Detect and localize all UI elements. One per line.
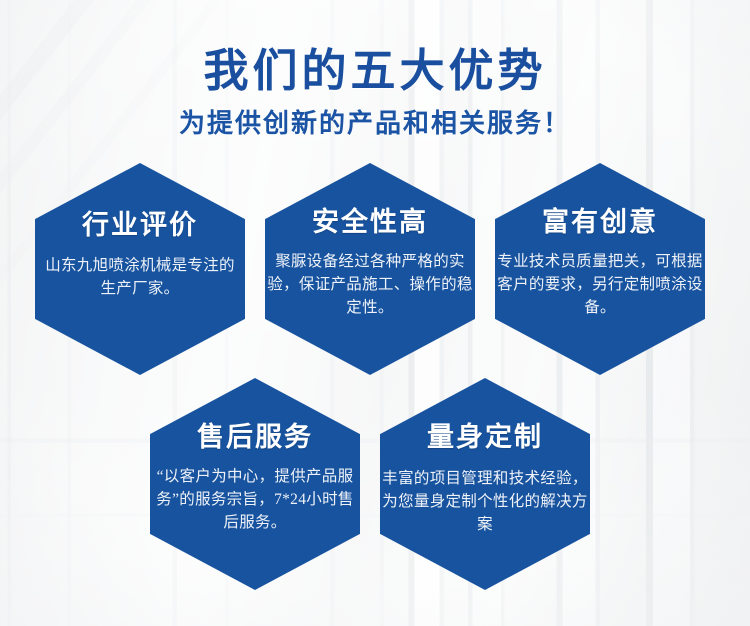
advantage-hexagon-industry-rating[interactable]: 行业评价 山东九旭喷涂机械是专注的生产厂家。	[35, 163, 245, 375]
advantage-hexagon-rich-creativity[interactable]: 富有创意 专业技术员质量把关，可根据客户的要求，另行定制喷涂设备。	[495, 163, 705, 375]
advantage-title: 行业评价	[82, 210, 198, 242]
page-title: 我们的五大优势	[0, 44, 750, 98]
advantage-body: 山东九旭喷涂机械是专注的生产厂家。	[42, 254, 238, 300]
advantage-body: 聚脲设备经过各种严格的实验，保证产品施工、操作的稳定性。	[267, 250, 473, 319]
advantage-body: “以客户为中心，提供产品服务”的服务宗旨，7*24小时售后服务。	[151, 465, 359, 534]
advantage-hexagon-high-safety[interactable]: 安全性高 聚脲设备经过各种严格的实验，保证产品施工、操作的稳定性。	[265, 163, 475, 375]
advantage-body: 专业技术员质量把关，可根据客户的要求，另行定制喷涂设备。	[497, 250, 703, 319]
advantage-title: 富有创意	[542, 207, 658, 239]
advantage-hexagon-tailored-customization[interactable]: 量身定制 丰富的项目管理和技术经验，为您量身定制个性化的解决方案	[380, 378, 590, 590]
advantage-body: 丰富的项目管理和技术经验，为您量身定制个性化的解决方案	[382, 467, 588, 536]
heading-block: 我们的五大优势 为提供创新的产品和相关服务！	[0, 44, 750, 141]
advantage-title: 售后服务	[197, 422, 313, 454]
page-subtitle: 为提供创新的产品和相关服务！	[0, 107, 750, 141]
advantage-title: 量身定制	[427, 422, 543, 454]
promo-banner: 我们的五大优势 为提供创新的产品和相关服务！ 行业评价 山东九旭喷涂机械是专注的…	[0, 0, 750, 626]
advantage-title: 安全性高	[312, 207, 428, 239]
advantage-hexagon-after-sales-service[interactable]: 售后服务 “以客户为中心，提供产品服务”的服务宗旨，7*24小时售后服务。	[150, 378, 360, 590]
